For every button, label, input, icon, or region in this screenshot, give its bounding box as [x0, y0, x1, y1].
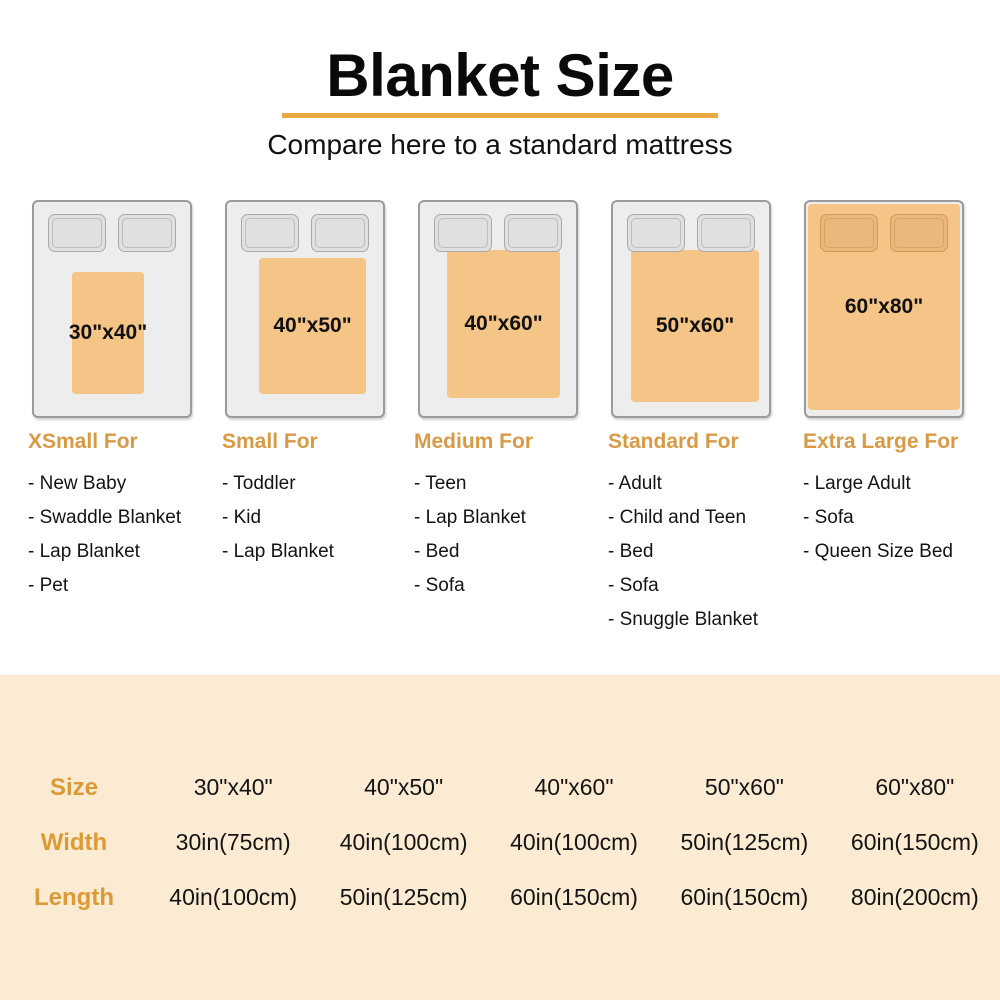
title-underline-rule [282, 113, 718, 118]
blanket-size-label: 40"x60" [464, 312, 542, 336]
spec-table-cell: 50in(125cm) [659, 829, 829, 856]
usage-column-title: Standard For [608, 430, 758, 454]
blanket-rect: 30"x40" [72, 272, 144, 394]
blanket-size-label: 30"x40" [69, 321, 147, 345]
bed-diagram: 50"x60" [611, 200, 771, 418]
bed-diagram-row: 30"x40"40"x50"40"x60"50"x60"60"x80" [0, 200, 1000, 420]
pillow-right [311, 214, 369, 252]
pillow-left [434, 214, 492, 252]
spec-table-cell: 80in(200cm) [830, 884, 1000, 911]
usage-column-item: - Swaddle Blanket [28, 501, 181, 535]
usage-column-item: - Teen [414, 467, 533, 501]
blanket-rect: 40"x50" [259, 258, 366, 394]
spec-table-row: Length40in(100cm)50in(125cm)60in(150cm)6… [0, 870, 1000, 925]
spec-table-cell: 40in(100cm) [148, 884, 318, 911]
blanket-size-label: 60"x80" [845, 295, 923, 319]
usage-column-item: - Pet [28, 569, 181, 603]
pillow-right [118, 214, 176, 252]
spec-table-cell: 60in(150cm) [830, 829, 1000, 856]
spec-row-header: Size [0, 774, 148, 802]
spec-table-cell: 40in(100cm) [489, 829, 659, 856]
spec-table-grid: Size30"x40"40"x50"40"x60"50"x60"60"x80"W… [0, 760, 1000, 925]
spec-table-cell: 40in(100cm) [318, 829, 488, 856]
usage-column-item: - Lap Blanket [222, 535, 334, 569]
spec-table-panel: Size30"x40"40"x50"40"x60"50"x60"60"x80"W… [0, 675, 1000, 1000]
spec-table-cell: 40"x60" [489, 774, 659, 801]
usage-column: Small For- Toddler- Kid- Lap Blanket [222, 430, 334, 569]
page-subtitle: Compare here to a standard mattress [0, 129, 1000, 161]
spec-table-row: Width30in(75cm)40in(100cm)40in(100cm)50i… [0, 815, 1000, 870]
spec-table-cell: 60in(150cm) [489, 884, 659, 911]
bed-diagram: 30"x40" [32, 200, 192, 418]
pillow-right [697, 214, 755, 252]
usage-column-item: - Bed [608, 535, 758, 569]
blanket-size-label: 40"x50" [273, 314, 351, 338]
usage-column-item: - Queen Size Bed [803, 535, 958, 569]
page-title: Blanket Size [326, 44, 673, 107]
bed-diagram: 60"x80" [804, 200, 964, 418]
pillow-left [48, 214, 106, 252]
blanket-rect: 50"x60" [631, 250, 759, 402]
bed-diagram: 40"x50" [225, 200, 385, 418]
pillow-left [241, 214, 299, 252]
usage-column-item: - Large Adult [803, 467, 958, 501]
spec-table-cell: 30in(75cm) [148, 829, 318, 856]
spec-table-cell: 40"x50" [318, 774, 488, 801]
usage-column-item: - Child and Teen [608, 501, 758, 535]
usage-column: Standard For- Adult- Child and Teen- Bed… [608, 430, 758, 637]
spec-row-header: Length [0, 884, 148, 912]
blanket-size-label: 50"x60" [656, 314, 734, 338]
blanket-rect: 40"x60" [447, 250, 560, 398]
usage-column: XSmall For- New Baby- Swaddle Blanket- L… [28, 430, 181, 603]
usage-column-title: Extra Large For [803, 430, 958, 454]
usage-column-item: - New Baby [28, 467, 181, 501]
spec-table-cell: 30"x40" [148, 774, 318, 801]
spec-table-cell: 60"x80" [830, 774, 1000, 801]
spec-row-header: Width [0, 829, 148, 857]
pillow-right [504, 214, 562, 252]
usage-column-item: - Bed [414, 535, 533, 569]
page-title-wrap: Blanket Size [0, 44, 1000, 118]
usage-column-item: - Lap Blanket [414, 501, 533, 535]
usage-column: Medium For- Teen- Lap Blanket- Bed- Sofa [414, 430, 533, 603]
usage-column-item: - Toddler [222, 467, 334, 501]
header: Blanket Size Compare here to a standard … [0, 0, 1000, 161]
bed-diagram: 40"x60" [418, 200, 578, 418]
usage-column-item: - Sofa [414, 569, 533, 603]
pillow-left [627, 214, 685, 252]
usage-column-item: - Lap Blanket [28, 535, 181, 569]
usage-column-item: - Sofa [608, 569, 758, 603]
usage-column-title: Medium For [414, 430, 533, 454]
usage-column-item: - Sofa [803, 501, 958, 535]
spec-table-cell: 50in(125cm) [318, 884, 488, 911]
usage-column-title: Small For [222, 430, 334, 454]
pillow-left [820, 214, 878, 252]
pillow-right [890, 214, 948, 252]
usage-column-item: - Snuggle Blanket [608, 603, 758, 637]
usage-column-item: - Adult [608, 467, 758, 501]
usage-column-title: XSmall For [28, 430, 181, 454]
usage-column-item: - Kid [222, 501, 334, 535]
usage-column: Extra Large For- Large Adult- Sofa- Quee… [803, 430, 958, 569]
spec-table-row: Size30"x40"40"x50"40"x60"50"x60"60"x80" [0, 760, 1000, 815]
spec-table-cell: 60in(150cm) [659, 884, 829, 911]
spec-table-cell: 50"x60" [659, 774, 829, 801]
